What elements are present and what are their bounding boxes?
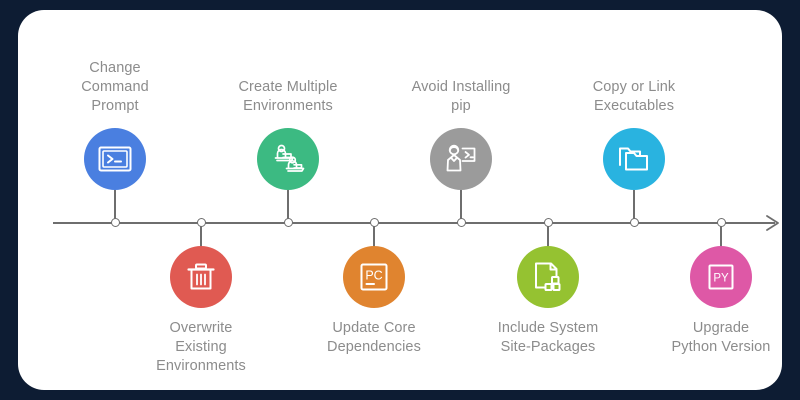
timeline-node-create-multiple-environments[interactable]: Create Multiple Environments	[193, 70, 383, 190]
marker-upgrade-python-version	[717, 218, 726, 227]
timeline-node-change-command-prompt[interactable]: Change Command Prompt	[20, 50, 210, 190]
pc-box-icon: PC	[356, 259, 392, 295]
marker-copy-or-link-executables	[630, 218, 639, 227]
node-label: Upgrade Python Version	[626, 319, 782, 357]
node-bubble[interactable]	[84, 128, 146, 190]
timeline-node-overwrite-existing-environments[interactable]: Overwrite Existing Environments	[106, 246, 296, 376]
two-people-laptops-icon	[270, 141, 306, 177]
node-label: Overwrite Existing Environments	[106, 319, 296, 376]
timeline-axis	[53, 222, 775, 224]
node-label: Include System Site-Packages	[453, 319, 643, 357]
timeline-node-avoid-installing-pip[interactable]: Avoid Installing pip	[366, 70, 556, 190]
node-label: Update Core Dependencies	[279, 319, 469, 357]
marker-avoid-installing-pip	[457, 218, 466, 227]
node-bubble[interactable]: PC	[343, 246, 405, 308]
marker-create-multiple-environments	[284, 218, 293, 227]
timeline-card: Change Command Prompt	[18, 10, 782, 390]
trash-can-icon	[184, 260, 218, 294]
marker-change-command-prompt	[111, 218, 120, 227]
node-bubble[interactable]: PY	[690, 246, 752, 308]
folders-icon	[616, 141, 652, 177]
document-packages-icon	[530, 259, 566, 295]
timeline-node-upgrade-python-version[interactable]: PY Upgrade Python Version	[626, 246, 782, 357]
node-label: Change Command Prompt	[20, 59, 210, 116]
node-bubble[interactable]	[603, 128, 665, 190]
marker-update-core-dependencies	[370, 218, 379, 227]
py-box-icon: PY	[703, 259, 739, 295]
person-terminal-icon	[443, 141, 479, 177]
timeline-node-copy-or-link-executables[interactable]: Copy or Link Executables	[539, 70, 729, 190]
infographic-canvas: Change Command Prompt	[0, 0, 800, 400]
marker-include-system-site-packages	[544, 218, 553, 227]
node-label: Avoid Installing pip	[366, 78, 556, 116]
node-label: Copy or Link Executables	[539, 78, 729, 116]
node-label: Create Multiple Environments	[193, 78, 383, 116]
svg-text:PC: PC	[365, 269, 382, 283]
node-bubble[interactable]	[430, 128, 492, 190]
marker-overwrite-existing-environments	[197, 218, 206, 227]
timeline-node-include-system-site-packages[interactable]: Include System Site-Packages	[453, 246, 643, 357]
node-bubble[interactable]	[517, 246, 579, 308]
timeline-arrow-icon	[765, 213, 782, 233]
timeline-node-update-core-dependencies[interactable]: PC Update Core Dependencies	[279, 246, 469, 357]
node-bubble[interactable]	[257, 128, 319, 190]
terminal-prompt-icon	[97, 141, 133, 177]
node-bubble[interactable]	[170, 246, 232, 308]
svg-text:PY: PY	[713, 273, 729, 285]
